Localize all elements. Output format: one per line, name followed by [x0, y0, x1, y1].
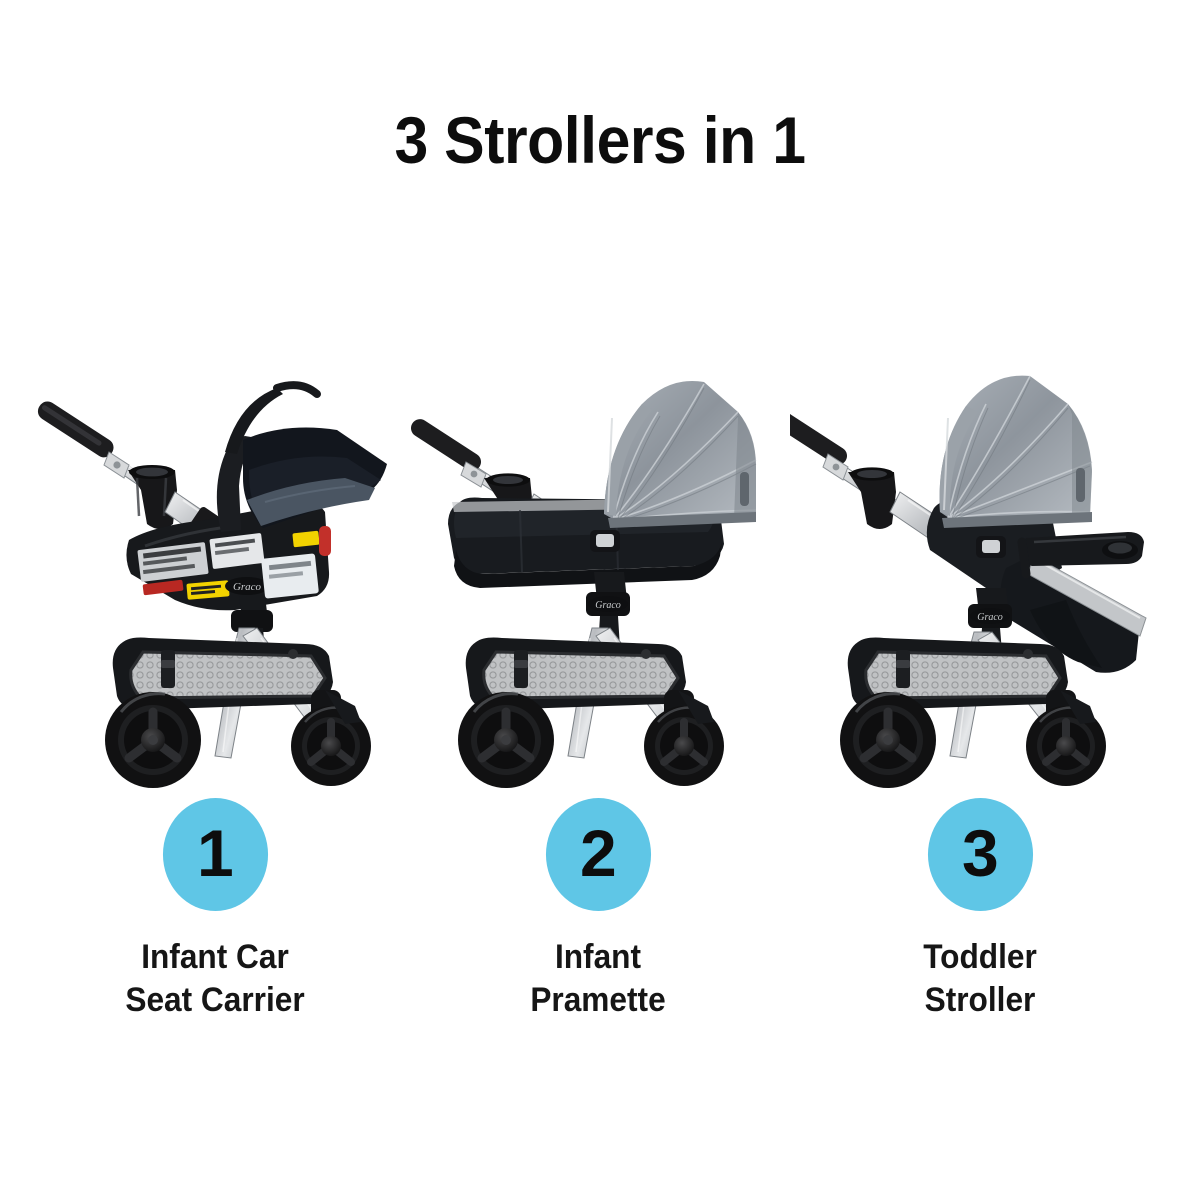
caption-toddler-stroller: Toddler Stroller	[803, 936, 1156, 1022]
svg-text:Graco: Graco	[595, 600, 621, 611]
toddler-stroller-photo: Graco	[790, 360, 1170, 790]
caption-2-line-2: Pramette	[421, 979, 774, 1022]
stroller-canopy	[940, 376, 1092, 528]
number-badge-3: 3	[927, 798, 1032, 911]
pramette-canopy	[604, 381, 756, 528]
product-images-row: Graco	[0, 360, 1200, 790]
front-wheel	[105, 692, 201, 788]
promo-page: 3 Strollers in 1	[0, 0, 1200, 1200]
caption-3-line-2: Stroller	[803, 979, 1156, 1022]
number-badges-row: 1 2 3	[0, 798, 1200, 918]
number-badge-3-label: 3	[962, 820, 999, 890]
cup-holder	[128, 465, 177, 529]
svg-text:Graco: Graco	[977, 612, 1003, 623]
front-wheel	[458, 692, 554, 788]
front-wheel	[840, 692, 936, 788]
number-badge-2: 2	[545, 798, 650, 911]
cup-holder	[848, 467, 896, 529]
caption-1-line-2: Seat Carrier	[38, 979, 391, 1022]
badge-group-2: 2	[408, 798, 788, 911]
svg-text:Graco: Graco	[233, 581, 262, 593]
number-badge-1: 1	[162, 798, 267, 911]
badge-group-3: 3	[790, 798, 1170, 911]
infant-pramette-photo: Graco	[408, 360, 788, 790]
page-title: 3 Strollers in 1	[48, 104, 1152, 177]
caption-1-line-1: Infant Car	[38, 936, 391, 979]
caption-3-line-1: Toddler	[803, 936, 1156, 979]
caption-2-line-1: Infant	[421, 936, 774, 979]
number-badge-1-label: 1	[197, 820, 234, 890]
caption-infant-car-seat-carrier: Infant Car Seat Carrier	[38, 936, 391, 1022]
infant-car-seat-carrier-photo: Graco	[25, 360, 405, 790]
badge-group-1: 1	[25, 798, 405, 911]
caption-infant-pramette: Infant Pramette	[421, 936, 774, 1022]
number-badge-2-label: 2	[580, 820, 617, 890]
